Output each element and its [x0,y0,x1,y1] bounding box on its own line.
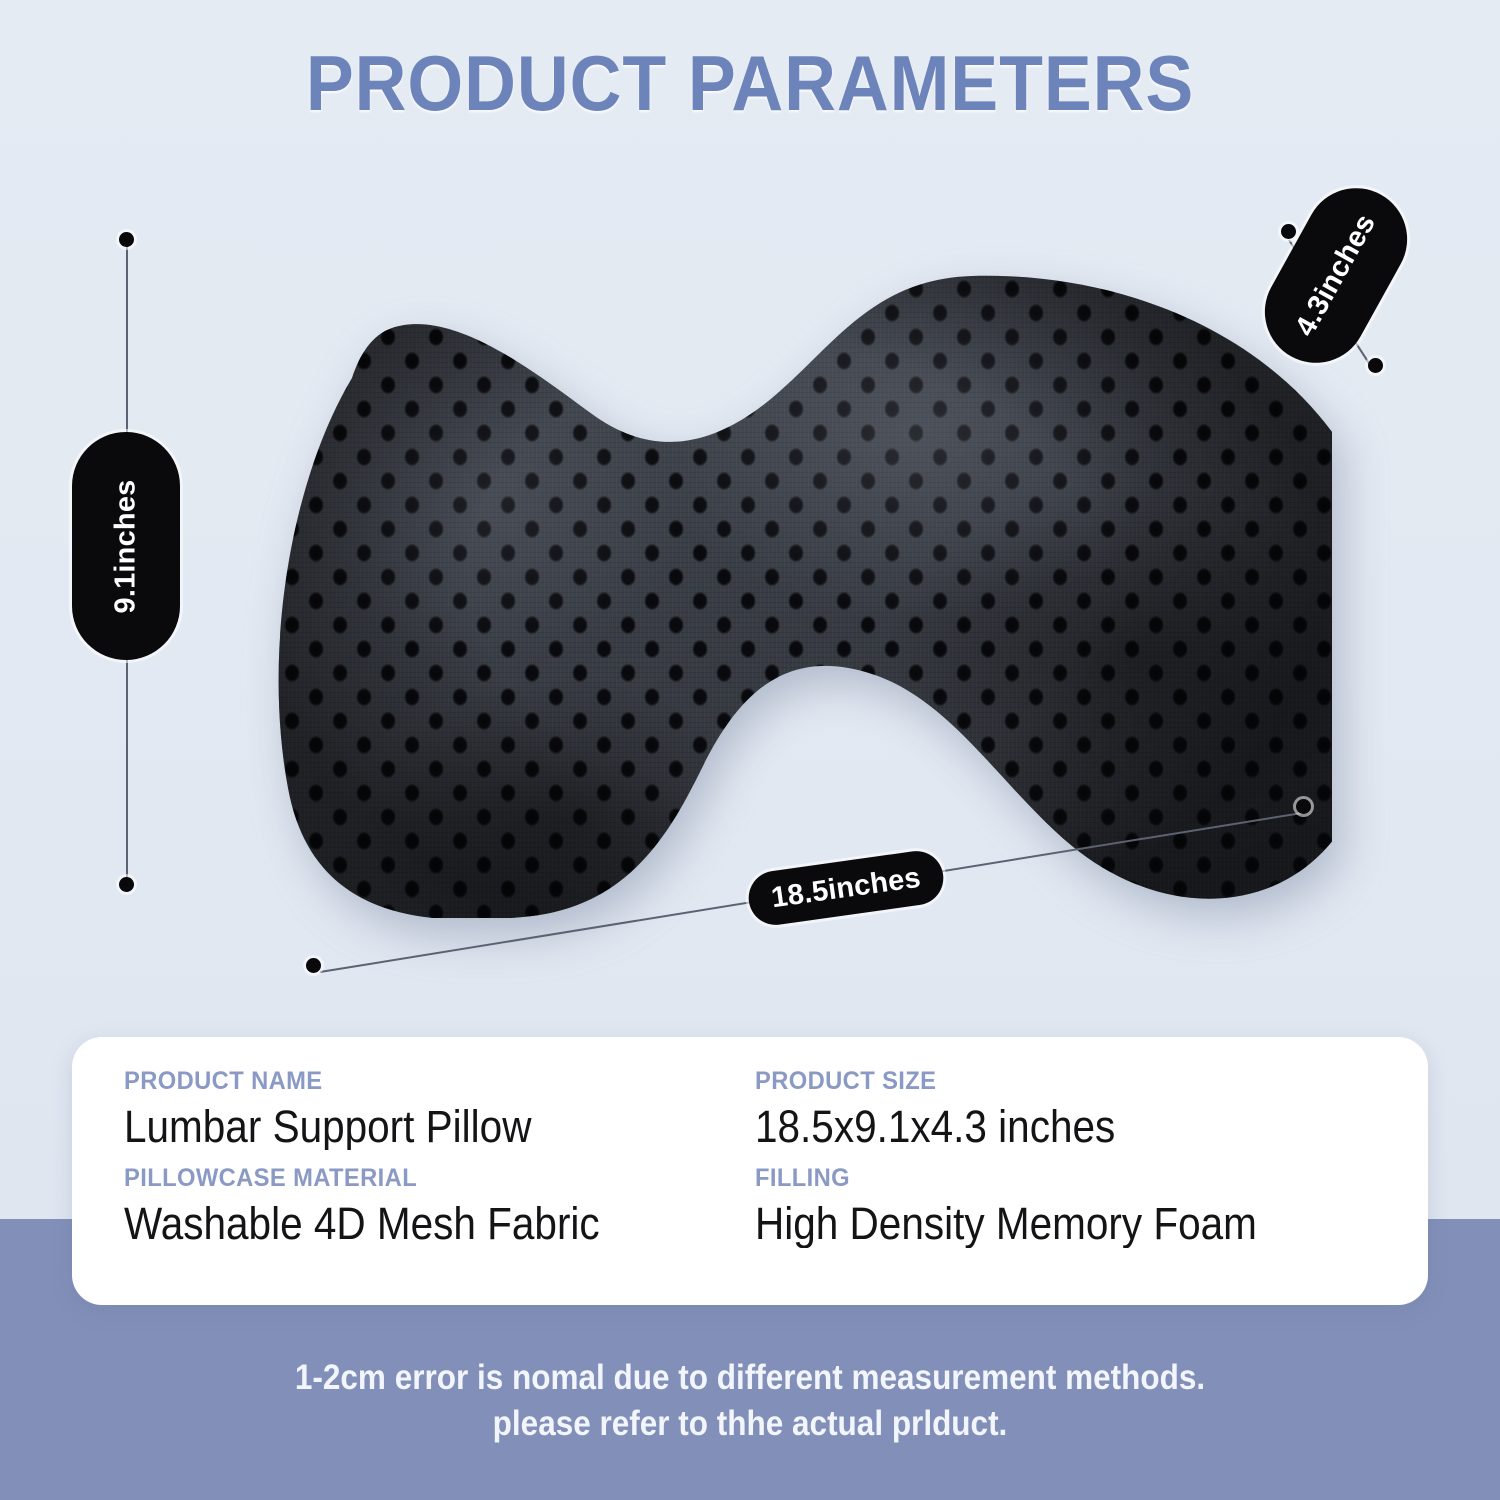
spec-value: High Density Memory Foam [755,1200,1314,1247]
spec-item-product-name: PRODUCT NAME Lumbar Support Pillow [124,1067,745,1150]
width-dimension-dot-right [1296,799,1311,814]
spec-label: PRODUCT NAME [124,1067,714,1096]
depth-dimension-dot-bottom [1368,358,1383,373]
disclaimer-line-2: please refer to thhe actual prlduct. [75,1401,1425,1447]
height-dimension-label: 9.1inches [72,432,180,660]
spec-value: 18.5x9.1x4.3 inches [755,1103,1314,1150]
product-image [232,228,1332,918]
pillow-mesh-surface [232,228,1332,918]
spec-item-pillowcase-material: PILLOWCASE MATERIAL Washable 4D Mesh Fab… [124,1164,745,1247]
spec-item-filling: FILLING High Density Memory Foam [755,1164,1376,1247]
pillow-illustration [232,228,1332,918]
height-dimension-dot-bottom [119,877,134,892]
infographic-root: PRODUCT PARAMETERS 9.1inches 4.3inches 1… [0,0,1500,1500]
spec-card: PRODUCT NAME Lumbar Support Pillow PRODU… [72,1037,1428,1305]
spec-item-product-size: PRODUCT SIZE 18.5x9.1x4.3 inches [755,1067,1376,1150]
disclaimer-note: 1-2cm error is nomal due to different me… [75,1355,1425,1447]
spec-value: Washable 4D Mesh Fabric [124,1200,683,1247]
spec-value: Lumbar Support Pillow [124,1103,683,1150]
depth-dimension-dot-top [1281,224,1296,239]
spec-label: PILLOWCASE MATERIAL [124,1164,714,1193]
spec-label: PRODUCT SIZE [755,1067,1345,1096]
page-title: PRODUCT PARAMETERS [60,38,1440,129]
width-dimension-dot-left [306,958,321,973]
disclaimer-line-1: 1-2cm error is nomal due to different me… [75,1355,1425,1401]
height-dimension-dot-top [119,232,134,247]
spec-label: FILLING [755,1164,1345,1193]
height-dimension-text: 9.1inches [110,479,143,613]
